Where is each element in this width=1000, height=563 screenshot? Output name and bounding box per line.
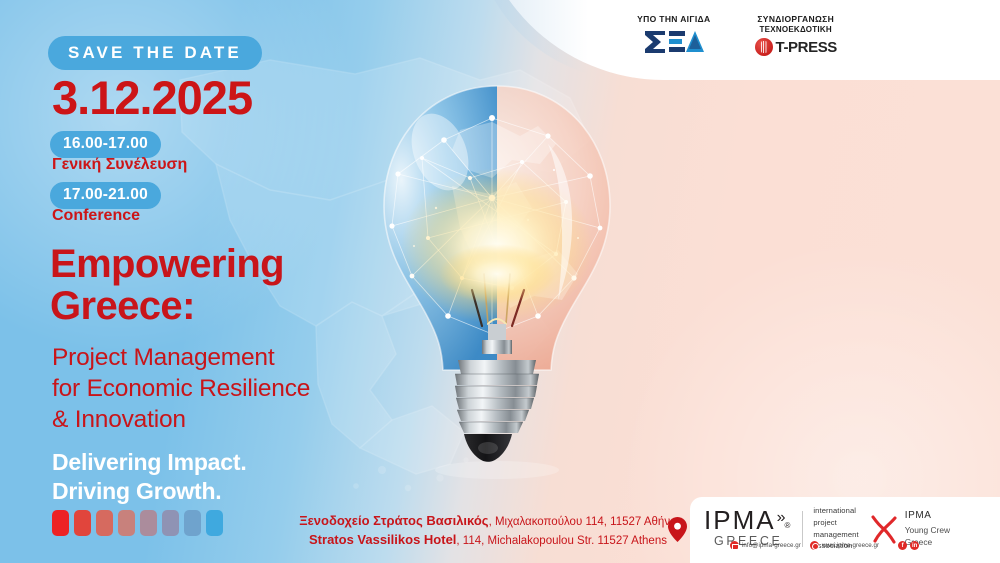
color-swatch-2	[74, 510, 91, 536]
session-2-time: 17.00-21.00	[50, 182, 161, 209]
ipma-text: IPMA	[704, 505, 776, 535]
email-contact[interactable]: info@ipma-greece.gr	[730, 541, 801, 550]
website-contact[interactable]: www.ipma-greece.gr	[810, 541, 879, 550]
email-icon	[730, 541, 739, 550]
event-poster: ΥΠΟ ΤΗΝ ΑΙΓΙΔΑ	[0, 0, 1000, 563]
subheadline-line-2: for Economic Resilience	[52, 373, 310, 404]
subheadline-line-3: & Innovation	[52, 404, 310, 435]
tpress-mark-icon	[755, 38, 773, 56]
session-1-label: Γενική Συνέλευση	[52, 156, 187, 174]
color-swatch-7	[184, 510, 201, 536]
tagline-line-2: Driving Growth.	[52, 477, 247, 506]
ipma-registered-icon: ®	[784, 521, 792, 530]
venue-greek-address: , Μιχαλακοπούλου 114, 11527 Αθήνα	[489, 516, 677, 528]
color-swatch-5	[140, 510, 157, 536]
sponsor-auspices: ΥΠΟ ΤΗΝ ΑΙΓΙΔΑ	[637, 14, 710, 55]
venue-greek: Ξενοδοχείο Στράτος Βασιλικός, Μιχαλακοπο…	[288, 512, 688, 531]
desc-line-3: management	[813, 529, 858, 541]
coorg-subcaption: ΤΕΧΝΟΕΚΔΟΤΙΚΗ	[760, 25, 832, 35]
sponsor-coorganizer: ΣΥΝΔΙΟΡΓΑΝΩΣΗ ΤΕΧΝΟΕΚΔΟΤΙΚΗ T-PRESS	[755, 14, 837, 56]
subheadline-line-1: Project Management	[52, 342, 310, 373]
tagline-line-1: Delivering Impact.	[52, 448, 247, 477]
tpress-wordmark: T-PRESS	[776, 39, 837, 56]
tpress-logo: T-PRESS	[755, 38, 837, 56]
facebook-icon[interactable]: f	[898, 541, 907, 550]
venue-english-address: , 114, Michalakopoulou Str. 11527 Athens	[456, 535, 667, 547]
email-text: info@ipma-greece.gr	[742, 542, 801, 549]
venue-english-name: Stratos Vassilikos Hotel	[309, 532, 456, 547]
desc-line-1: international	[813, 505, 858, 517]
sed-logo	[643, 29, 705, 55]
headline-line-2: Greece:	[50, 285, 284, 327]
save-the-date-badge: SAVE THE DATE	[48, 36, 262, 70]
color-swatch-4	[118, 510, 135, 536]
venue-info: Ξενοδοχείο Στράτος Βασιλικός, Μιχαλακοπο…	[288, 512, 688, 549]
color-swatch-1	[52, 510, 69, 536]
lightbulb-illustration	[352, 78, 642, 488]
color-swatch-6	[162, 510, 179, 536]
event-headline: Empowering Greece:	[50, 243, 284, 328]
contact-row: info@ipma-greece.gr www.ipma-greece.gr f…	[730, 541, 919, 550]
session-1-time: 16.00-17.00	[50, 131, 161, 158]
sponsor-logos: ΥΠΟ ΤΗΝ ΑΙΓΙΔΑ	[474, 14, 1000, 76]
young-crew-mark-icon	[869, 514, 899, 544]
linkedin-icon[interactable]: in	[910, 541, 919, 550]
ipma-logo-card: IPMA»® GREECE international project mana…	[690, 497, 1000, 563]
session-2-label: Conference	[52, 207, 140, 225]
auspices-caption: ΥΠΟ ΤΗΝ ΑΙΓΙΔΑ	[637, 14, 710, 25]
color-swatch-8	[206, 510, 223, 536]
color-swatch-3	[96, 510, 113, 536]
coorg-caption: ΣΥΝΔΙΟΡΓΑΝΩΣΗ	[757, 14, 834, 25]
headline-line-1: Empowering	[50, 243, 284, 285]
event-subheadline: Project Management for Economic Resilien…	[52, 342, 310, 435]
color-swatch-strip	[52, 510, 223, 536]
ipma-wordmark: IPMA»®	[704, 509, 792, 533]
young-crew-line-1: Young Crew	[905, 524, 950, 536]
desc-line-2: project	[813, 517, 858, 529]
website-text: www.ipma-greece.gr	[822, 542, 879, 549]
social-links: f in	[898, 541, 919, 550]
location-pin-icon	[668, 517, 687, 542]
venue-english: Stratos Vassilikos Hotel, 114, Michalako…	[288, 531, 688, 550]
globe-icon	[810, 541, 819, 550]
venue-greek-name: Ξενοδοχείο Στράτος Βασιλικός	[299, 513, 488, 528]
event-tagline: Delivering Impact. Driving Growth.	[52, 448, 247, 506]
event-date: 3.12.2025	[52, 74, 252, 121]
young-crew-brand: IPMA	[905, 509, 950, 524]
